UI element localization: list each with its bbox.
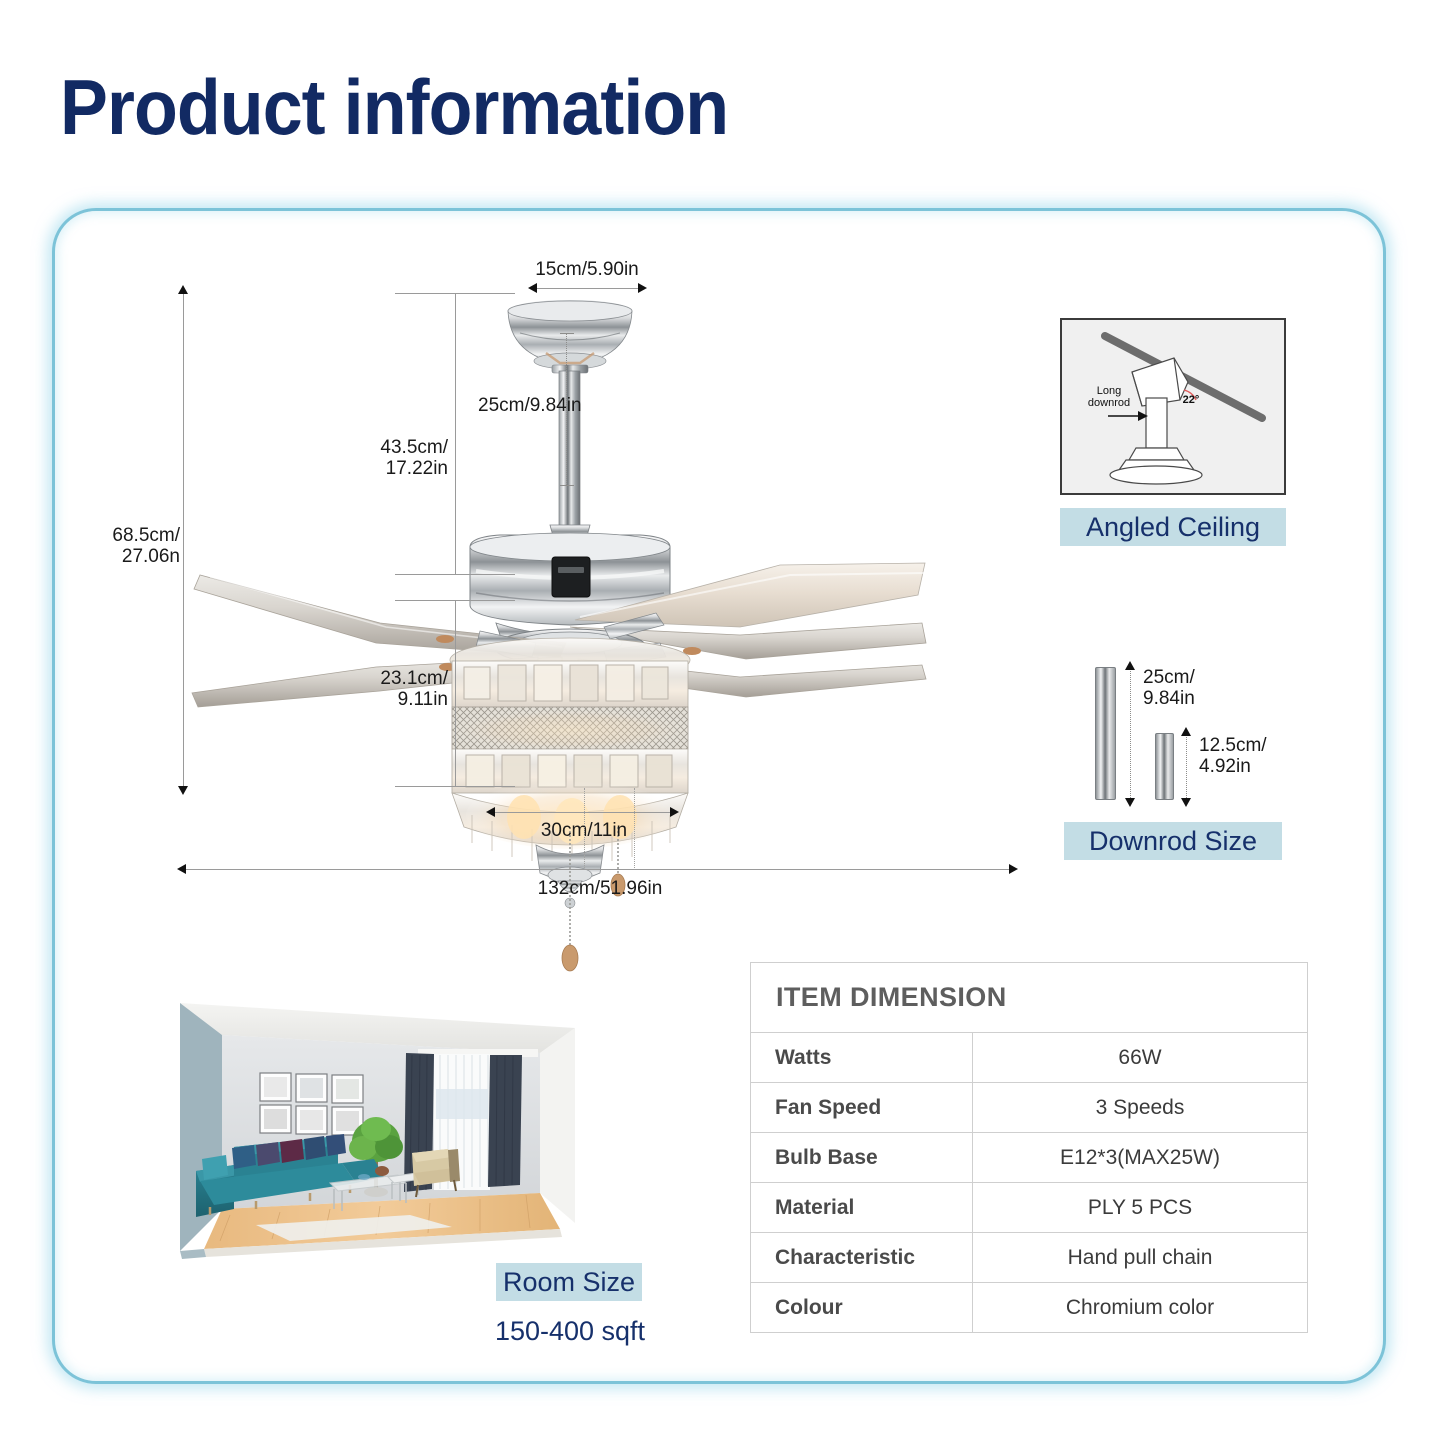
guide-span-right <box>634 788 635 870</box>
row-value-characteristic: Hand pull chain <box>973 1233 1308 1283</box>
row-value-bulb-base: E12*3(MAX25W) <box>973 1133 1308 1183</box>
room-svg <box>160 993 595 1268</box>
row-key-watts: Watts <box>751 1033 973 1083</box>
tick-bot-b <box>395 786 515 787</box>
tick-rod-b <box>560 485 574 486</box>
tick-top-b <box>395 574 515 575</box>
table-row: Bulb Base E12*3(MAX25W) <box>751 1133 1308 1183</box>
arrow-left-light <box>486 807 495 817</box>
room-size-illustration <box>160 993 595 1268</box>
row-value-fan-speed: 3 Speeds <box>973 1083 1308 1133</box>
arrow-left-span <box>177 864 186 874</box>
dimline-overall-height <box>183 292 184 786</box>
table-row: Watts 66W <box>751 1033 1308 1083</box>
downrod-short <box>1155 733 1174 800</box>
table-row: Material PLY 5 PCS <box>751 1183 1308 1233</box>
tick-rod-a <box>560 333 574 334</box>
fan-canopy <box>508 300 632 373</box>
dimline-light-width <box>492 812 674 813</box>
arrow-left-canopy <box>528 283 537 293</box>
arrow-up-rod-long <box>1125 661 1135 670</box>
row-value-colour: Chromium color <box>973 1283 1308 1333</box>
arrow-right-canopy <box>638 283 647 293</box>
dim-top-to-blade: 43.5cm/ 17.22in <box>360 437 448 480</box>
table-row: Colour Chromium color <box>751 1283 1308 1333</box>
table-row: Characteristic Hand pull chain <box>751 1233 1308 1283</box>
tick-bot-a <box>395 600 515 601</box>
row-key-material: Material <box>751 1183 973 1233</box>
tick-top-a <box>395 293 515 294</box>
room-size-caption: Room Size <box>496 1263 642 1301</box>
row-key-colour: Colour <box>751 1283 973 1333</box>
arrow-up-overall <box>178 285 188 294</box>
row-key-bulb-base: Bulb Base <box>751 1133 973 1183</box>
dimline-rod-long <box>1130 668 1131 798</box>
downrod-long <box>1095 667 1116 800</box>
dimline-blade-to-bottom <box>455 600 456 786</box>
dim-downrod-short: 12.5cm/ 4.92in <box>1199 735 1299 778</box>
table-header-row: ITEM DIMENSION <box>751 963 1308 1033</box>
dim-blade-to-bottom: 23.1cm/ 9.11in <box>360 668 448 711</box>
page-title: Product information <box>60 62 728 153</box>
angled-ceiling-caption: Angled Ceiling <box>1060 508 1286 546</box>
dim-overall-height: 68.5cm/ 27.06n <box>96 525 180 568</box>
item-dimension-table: ITEM DIMENSION Watts 66W Fan Speed 3 Spe… <box>750 962 1308 1333</box>
row-value-material: PLY 5 PCS <box>973 1183 1308 1233</box>
angled-rod-label: Long downrod <box>1079 385 1139 410</box>
dim-canopy-width: 15cm/5.90in <box>522 259 652 280</box>
dimline-rod-short <box>1186 734 1187 798</box>
downrod-size-caption: Downrod Size <box>1064 822 1282 860</box>
dim-downrod-length: 25cm/9.84in <box>478 395 560 416</box>
arrow-right-span <box>1009 864 1018 874</box>
row-key-characteristic: Characteristic <box>751 1233 973 1283</box>
angle-value-label: 22° <box>1175 394 1207 406</box>
room-size-value: 150-400 sqft <box>480 1316 660 1347</box>
row-key-fan-speed: Fan Speed <box>751 1083 973 1133</box>
table-title: ITEM DIMENSION <box>751 963 1308 1033</box>
dimline-top-to-blade <box>455 293 456 574</box>
arrow-down-overall <box>178 786 188 795</box>
arrow-down-rod-long <box>1125 798 1135 807</box>
dimline-canopy-width <box>534 288 641 289</box>
guide-span-left <box>584 788 585 870</box>
arrow-right-light <box>670 807 679 817</box>
arrow-up-rod-short <box>1181 727 1191 736</box>
dimline-blade-span <box>183 869 1013 870</box>
row-value-watts: 66W <box>973 1033 1308 1083</box>
table-row: Fan Speed 3 Speeds <box>751 1083 1308 1133</box>
arrow-down-rod-short <box>1181 798 1191 807</box>
dim-blade-span: 132cm/51.96in <box>450 878 750 899</box>
dim-downrod-long: 25cm/ 9.84in <box>1143 667 1233 710</box>
